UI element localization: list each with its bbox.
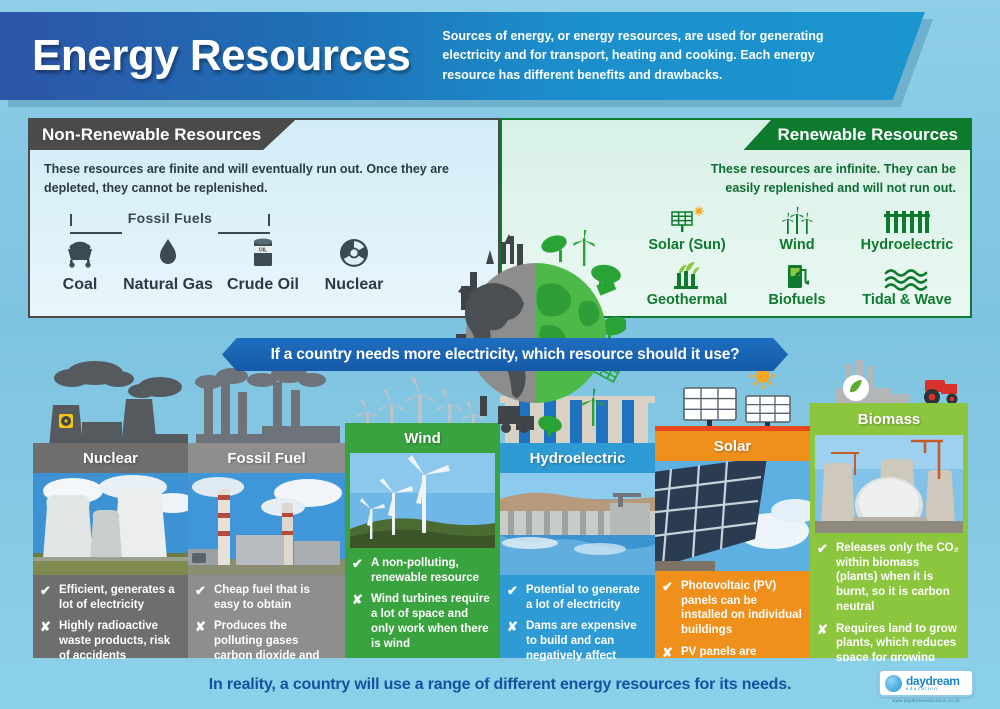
card-con: ✘ Highly radioactive waste products, ris… (40, 619, 181, 663)
card-body: ✔ A non-polluting, renewable resource ✘ … (345, 548, 500, 666)
card-fossil-fuel[interactable]: Fossil Fuel (188, 443, 345, 658)
coal-power-station-photo (188, 473, 345, 575)
check-icon: ✔ (40, 583, 53, 612)
daydream-education-logo[interactable]: daydream education (878, 669, 974, 697)
footer-bar: In reality, a country will use a range o… (0, 661, 1000, 709)
renewable-description: These resources are infinite. They can b… (706, 160, 956, 198)
card-title: Solar (655, 431, 810, 461)
resource-name: Wind (742, 237, 852, 253)
oil-barrel-icon: OIL (218, 232, 308, 274)
card-pro: ✔ A non-polluting, renewable resource (352, 556, 493, 585)
card-title: Fossil Fuel (188, 443, 345, 473)
card-title: Nuclear (33, 443, 188, 473)
resource-name: Nuclear (308, 276, 400, 294)
resource-tidal-wave: Tidal & Wave (852, 257, 962, 308)
resource-panels: Non-Renewable Resources These resources … (28, 118, 972, 318)
fossil-fuels-bracket: Fossil Fuels (70, 212, 270, 234)
resource-name: Coal (42, 276, 118, 294)
card-biomass[interactable]: Biomass (810, 403, 968, 658)
check-icon: ✔ (195, 583, 208, 612)
card-pro: ✔ Potential to generate a lot of electri… (507, 583, 648, 612)
renewable-tab: Renewable Resources (744, 120, 972, 150)
check-icon: ✔ (352, 556, 365, 585)
card-con: ✘ Wind turbines require a lot of space a… (352, 592, 493, 651)
card-pro: ✔ Cheap fuel that is easy to obtain (195, 583, 338, 612)
geothermal-plant-icon (632, 257, 742, 291)
card-con-text: Wind turbines require a lot of space and… (371, 592, 493, 651)
card-pro: ✔ Photovoltaic (PV) panels can be instal… (662, 579, 803, 638)
footer-text: In reality, a country will use a range o… (209, 676, 791, 694)
fossil-fuels-label: Fossil Fuels (128, 210, 213, 226)
resource-biofuels: Biofuels (742, 257, 852, 308)
card-pro-text: Photovoltaic (PV) panels can be installe… (681, 579, 803, 638)
hydroelectric-dam-photo (500, 473, 655, 575)
nuclear-cooling-towers-photo (33, 473, 188, 575)
non-renewable-panel: Non-Renewable Resources These resources … (28, 118, 500, 318)
biomass-plant-photo (815, 435, 963, 533)
card-wind[interactable]: Wind (345, 423, 500, 658)
svg-text:OIL: OIL (259, 248, 267, 254)
wind-turbines-photo (350, 453, 495, 548)
logo-primary-text: daydream (906, 675, 960, 687)
resource-geothermal: Geothermal (632, 257, 742, 308)
card-pro-text: Efficient, generates a lot of electricit… (59, 583, 181, 612)
resource-name: Crude Oil (218, 276, 308, 294)
card-con-text: Highly radioactive waste products, risk … (59, 619, 181, 663)
resource-crude-oil: OIL Crude Oil (218, 232, 308, 294)
check-icon: ✔ (507, 583, 520, 612)
solar-panel-sun-icon (632, 202, 742, 236)
page-title: Energy Resources (32, 31, 410, 81)
resource-coal: Coal (42, 232, 118, 294)
resource-nuclear: Nuclear (308, 232, 400, 294)
split-globe-illustration (446, 230, 626, 436)
cross-icon: ✘ (352, 592, 365, 651)
resource-name: Hydroelectric (852, 237, 962, 253)
header-subtitle: Sources of energy, or energy resources, … (442, 27, 852, 85)
renewable-tab-label: Renewable Resources (778, 125, 958, 145)
card-pro-text: Releases only the CO₂ within biomass (pl… (836, 541, 961, 615)
fuel-pump-leaf-icon (742, 257, 852, 291)
waves-icon (852, 257, 962, 291)
non-renewable-tab: Non-Renewable Resources (28, 120, 295, 150)
question-banner-text: If a country needs more electricity, whi… (222, 338, 788, 371)
question-banner: If a country needs more electricity, whi… (222, 338, 788, 371)
resource-name: Tidal & Wave (852, 292, 962, 308)
flame-icon (118, 232, 218, 274)
resource-name: Solar (Sun) (632, 237, 742, 253)
card-title: Hydroelectric (500, 443, 655, 473)
header-bar: Energy Resources Sources of energy, or e… (0, 12, 925, 100)
non-renewable-tab-label: Non-Renewable Resources (42, 125, 261, 145)
radiation-icon (308, 232, 400, 274)
check-icon: ✔ (817, 541, 830, 615)
resource-solar: Solar (Sun) (632, 202, 742, 253)
resource-name: Natural Gas (118, 276, 218, 294)
tractor-icon (924, 380, 958, 405)
resource-name: Biofuels (742, 292, 852, 308)
card-title: Biomass (810, 403, 968, 435)
infographic-page: Energy Resources Sources of energy, or e… (0, 0, 1000, 709)
comparison-cards: Nuclear ✔ Efficient, g (33, 403, 968, 658)
wind-turbine-icon (742, 202, 852, 236)
header-banner: Energy Resources Sources of energy, or e… (0, 12, 925, 100)
cross-icon: ✘ (40, 619, 53, 663)
check-icon: ✔ (662, 579, 675, 638)
resource-name: Geothermal (632, 292, 742, 308)
resource-natural-gas: Natural Gas (118, 232, 218, 294)
card-hydroelectric[interactable]: Hydroelectric (500, 443, 655, 658)
renewable-items: Solar (Sun) (632, 202, 962, 308)
card-nuclear[interactable]: Nuclear ✔ Efficient, g (33, 443, 188, 658)
non-renewable-description: These resources are finite and will even… (44, 160, 498, 198)
card-pro-text: Cheap fuel that is easy to obtain (214, 583, 338, 612)
card-pro-text: Potential to generate a lot of electrici… (526, 583, 648, 612)
card-solar[interactable]: Solar ✔ (655, 426, 810, 658)
solar-panels-photo (655, 461, 810, 571)
dam-icon (852, 202, 962, 236)
resource-wind: Wind (742, 202, 852, 253)
coal-cart-icon (42, 232, 118, 274)
non-renewable-items: Coal Natural Gas (42, 232, 402, 294)
logo-mark-icon (885, 675, 902, 692)
card-pro-text: A non-polluting, renewable resource (371, 556, 493, 585)
resource-hydroelectric: Hydroelectric (852, 202, 962, 253)
logo-tagline: www.daydreameducation.co.uk (878, 698, 974, 703)
card-pro: ✔ Efficient, generates a lot of electric… (40, 583, 181, 612)
card-pro: ✔ Releases only the CO₂ within biomass (… (817, 541, 961, 615)
